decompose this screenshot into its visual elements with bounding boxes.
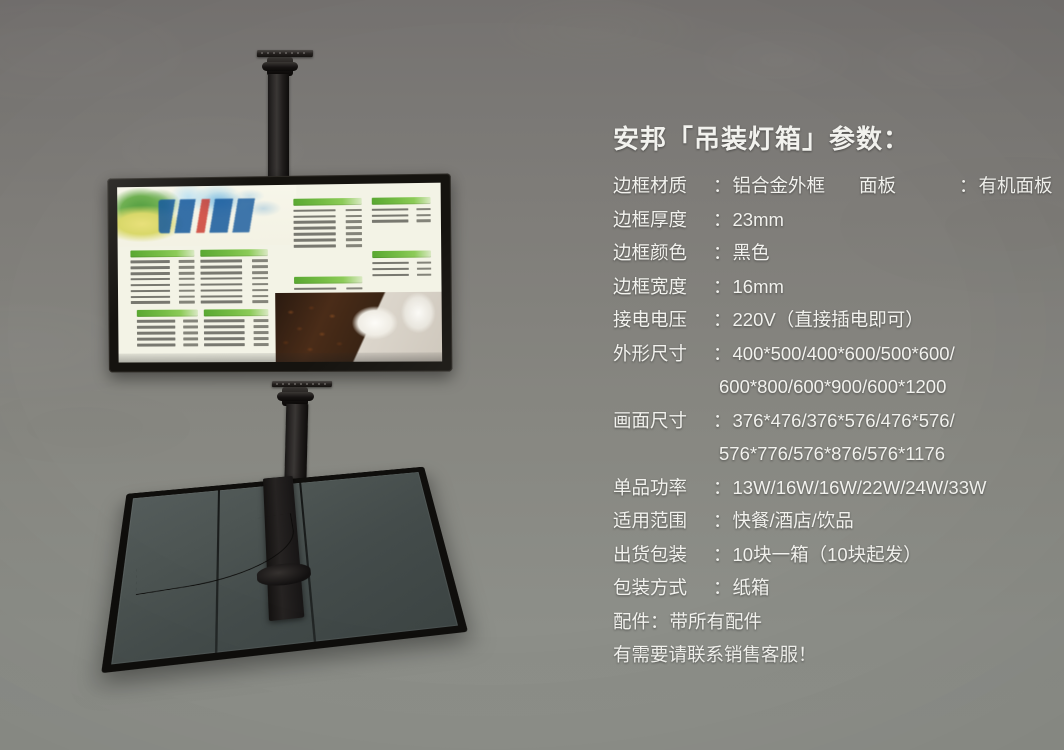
vignette-overlay — [0, 0, 1064, 750]
screenshot-root: 安邦「吊装灯箱」参数： 边框材质 ： 铝合金外框 面板 ： 有机面板 边框厚度 … — [0, 0, 1064, 750]
